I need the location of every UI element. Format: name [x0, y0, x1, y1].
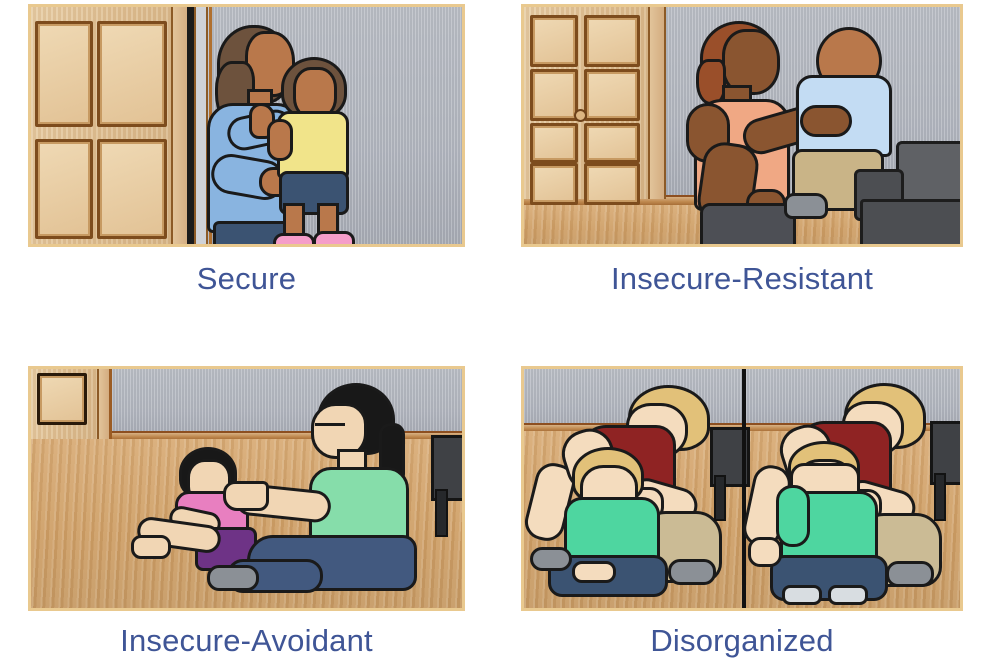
- door-panel: [35, 21, 93, 127]
- mother-pants: [700, 203, 796, 244]
- tv-stand-leg: [714, 475, 726, 521]
- door: [524, 7, 651, 199]
- panel-caption-insecure-resistant: Insecure-Resistant: [611, 263, 873, 294]
- panel-image-secure: [28, 4, 465, 247]
- scene-disorganized: [524, 369, 960, 608]
- door-panel: [530, 163, 578, 205]
- sub-scene-left: [524, 369, 742, 608]
- baby-shoe-left: [784, 193, 828, 219]
- woman-fist: [748, 537, 782, 567]
- door: [31, 7, 174, 244]
- glasses-icon: [315, 423, 345, 426]
- woman-foot: [207, 565, 259, 591]
- panel-cell-insecure-resistant: Insecure-Resistant: [521, 4, 963, 294]
- panel-image-disorganized: [521, 366, 963, 611]
- door-panel: [584, 123, 640, 163]
- sub-scene-right: [746, 369, 960, 608]
- door-panel: [530, 69, 578, 121]
- door-panel: [584, 163, 640, 205]
- panel-image-insecure-avoidant: [28, 366, 465, 611]
- couch-seat: [860, 199, 960, 244]
- door-knob[interactable]: [574, 109, 587, 122]
- woman-hand: [223, 481, 269, 511]
- woman-foot-left: [530, 547, 572, 571]
- door-panel: [584, 69, 640, 121]
- woman-foot: [668, 559, 716, 585]
- panel-cell-disorganized: Disorganized: [521, 366, 963, 656]
- wall-corner-line: [109, 369, 112, 439]
- door-jamb: [187, 7, 194, 244]
- child-shoe-left: [273, 233, 315, 244]
- tv-stand-leg: [435, 489, 448, 537]
- boy-sock-left: [782, 585, 822, 605]
- door: [31, 369, 100, 439]
- child-arm: [267, 119, 293, 161]
- door-panel: [37, 373, 87, 425]
- boy-sock-right: [828, 585, 868, 605]
- scene-secure: [31, 7, 462, 244]
- panel-caption-disorganized: Disorganized: [650, 625, 833, 656]
- boy-sleeve: [776, 485, 810, 547]
- door-panel: [97, 139, 167, 239]
- child-shoe-right: [313, 231, 355, 244]
- panel-cell-secure: Secure: [28, 4, 465, 294]
- scene-insecure-resistant: [524, 7, 960, 244]
- panel-cell-insecure-avoidant: Insecure-Avoidant: [28, 366, 465, 656]
- door-panel: [530, 123, 578, 163]
- tv-stand-leg: [934, 473, 946, 521]
- child-feet: [131, 535, 171, 559]
- door-panel: [584, 15, 640, 67]
- boy-hands: [572, 561, 616, 583]
- door-panel: [530, 15, 578, 67]
- door-frame: [648, 7, 666, 199]
- woman-foot: [886, 561, 934, 587]
- attachment-styles-figure: Secure: [0, 0, 1000, 667]
- door-panel: [97, 21, 167, 127]
- scene-insecure-avoidant: [31, 369, 462, 608]
- door-frame-inner: [194, 7, 208, 244]
- panel-caption-insecure-avoidant: Insecure-Avoidant: [120, 625, 373, 656]
- panel-caption-secure: Secure: [197, 263, 296, 294]
- mother-hand-on-baby: [800, 105, 852, 137]
- panel-image-insecure-resistant: [521, 4, 963, 247]
- door-panel: [35, 139, 93, 239]
